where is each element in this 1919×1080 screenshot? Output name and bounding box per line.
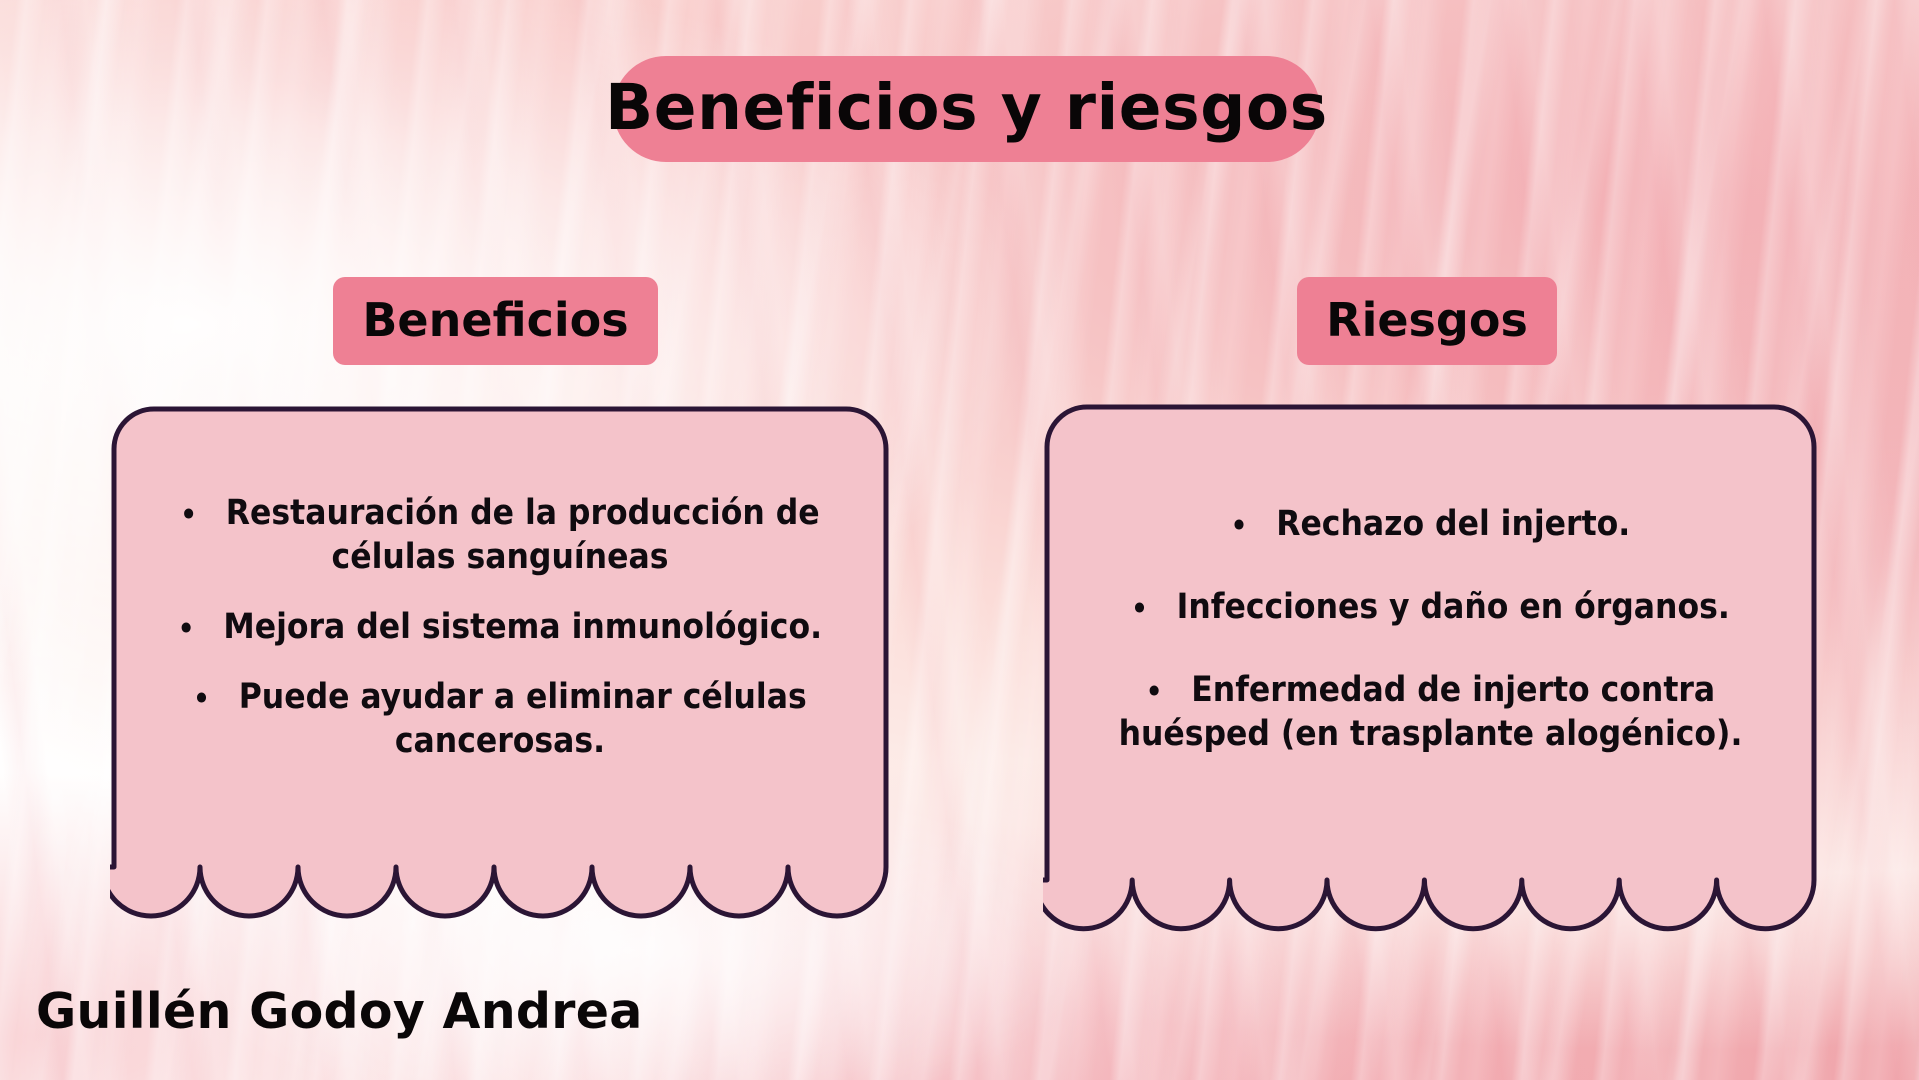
bullet-glyph: • [178,611,212,645]
list-item-text: Enfermedad de injerto contra huésped (en… [1119,670,1743,755]
column-header-riesgos: Riesgos [1297,277,1557,365]
list-item-text: Rechazo del injerto. [1276,504,1630,544]
column-header-label: Riesgos [1326,297,1528,343]
list-item-text: Restauración de la producción de células… [226,493,820,577]
list-item: • Enfermedad de injerto contra huésped (… [1073,668,1788,758]
card-body-riesgos: • Rechazo del injerto. • Infecciones y d… [1043,403,1818,938]
bullet-glyph: • [193,681,227,715]
list-item: • Infecciones y daño en órganos. [1073,585,1788,630]
list-item: • Restauración de la producción de célul… [152,491,848,579]
list-item: • Rechazo del injerto. [1073,502,1788,547]
list-item: • Puede ayudar a eliminar células cancer… [152,675,848,763]
slide-canvas: Beneficios y riesgos Beneficios Riesgos … [0,0,1919,1080]
page-title: Beneficios y riesgos [605,76,1328,139]
card-riesgos: • Rechazo del injerto. • Infecciones y d… [1043,403,1818,938]
bullet-glyph: • [1231,508,1265,542]
bullet-glyph: • [1131,591,1165,625]
list-item-text: Puede ayudar a eliminar células canceros… [239,677,807,761]
card-body-beneficios: • Restauración de la producción de célul… [110,405,890,925]
list-item: • Mejora del sistema inmunológico. [152,605,848,649]
card-beneficios: • Restauración de la producción de célul… [110,405,890,925]
column-header-beneficios: Beneficios [333,277,658,365]
bullet-glyph: • [1146,674,1180,708]
bullet-glyph: • [180,497,214,531]
list-item-text: Mejora del sistema inmunológico. [223,607,822,647]
column-header-label: Beneficios [362,297,628,343]
author-name: Guillén Godoy Andrea [36,983,643,1040]
slide-title-pill: Beneficios y riesgos [613,56,1320,162]
list-item-text: Infecciones y daño en órganos. [1177,587,1730,627]
